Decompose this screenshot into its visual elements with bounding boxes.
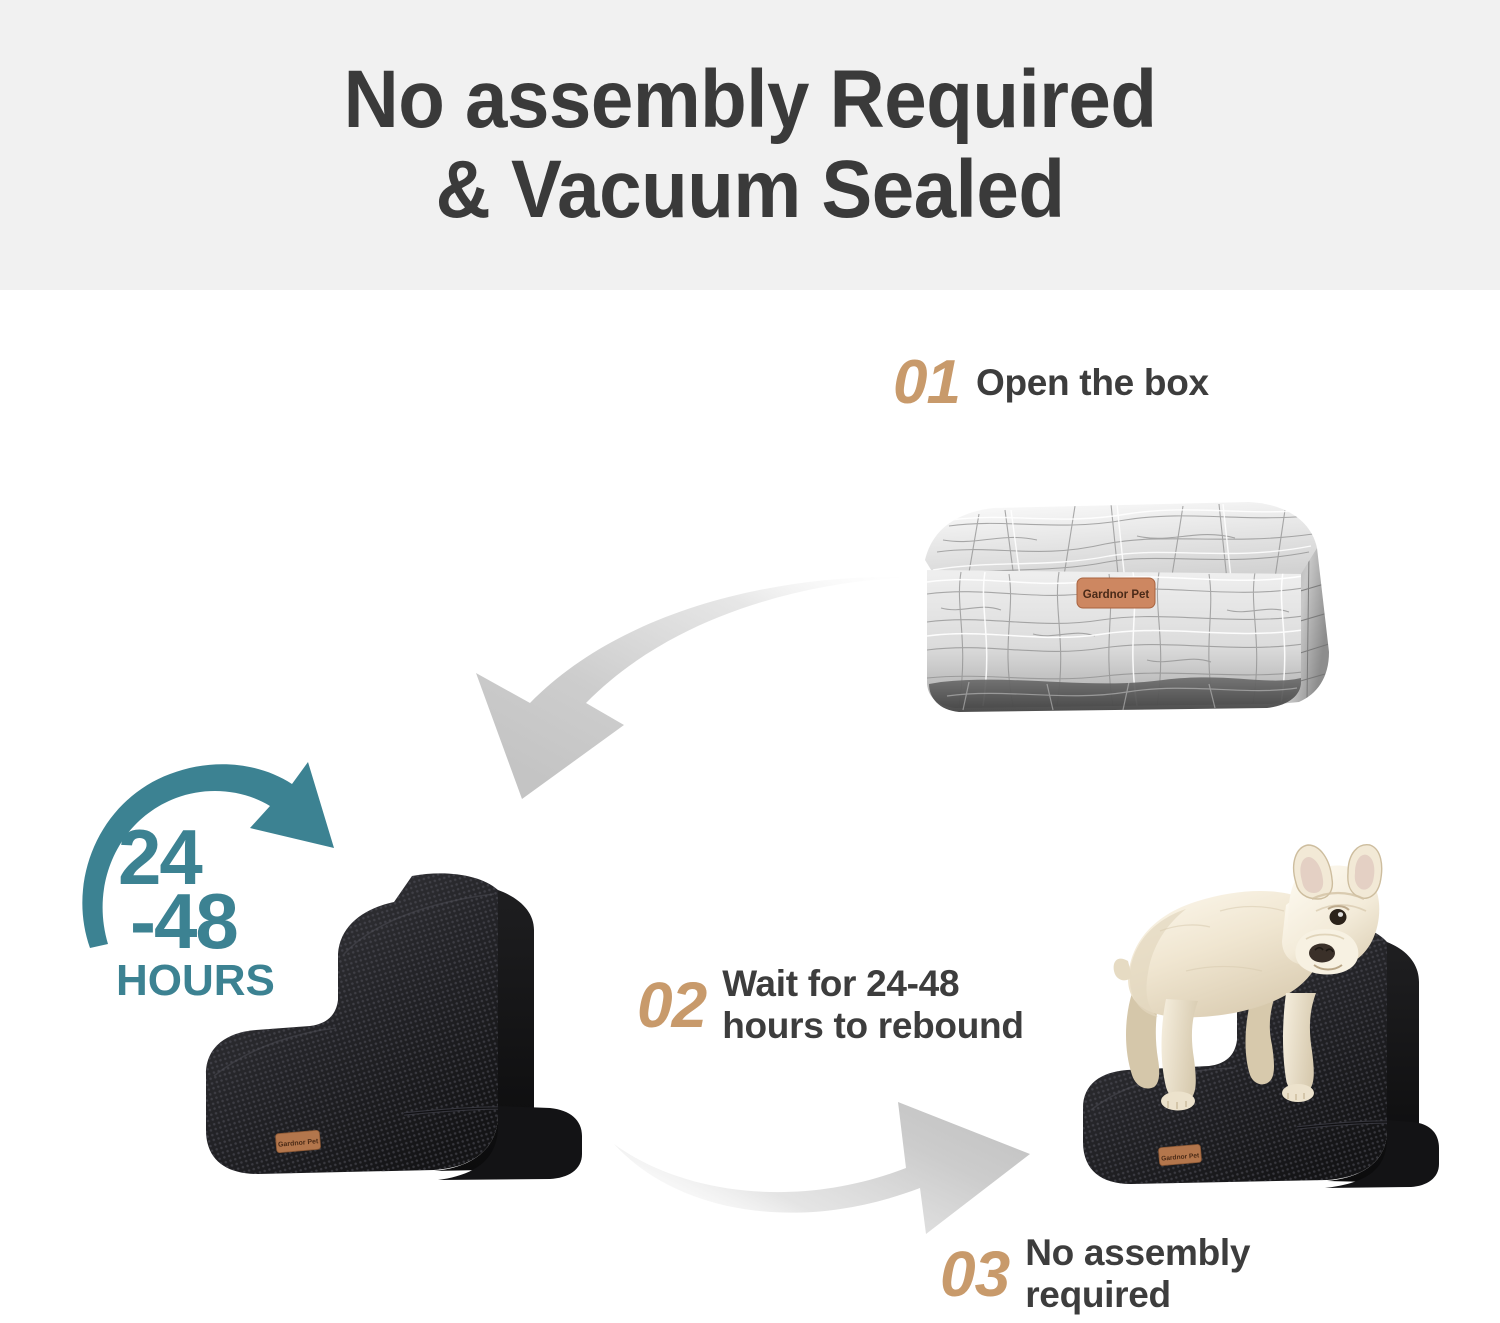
headline-line-2: & Vacuum Sealed: [436, 145, 1065, 235]
step-number-03: 03: [940, 1243, 1009, 1305]
step-number-01: 01: [893, 352, 960, 414]
french-bulldog-image: [1090, 843, 1385, 1133]
package-brand-label: Gardnor Pet: [1077, 578, 1155, 608]
headline-line-1: No assembly Required: [344, 55, 1157, 145]
header-band: No assembly Required & Vacuum Sealed: [0, 0, 1500, 290]
step-label-02: 02 Wait for 24-48 hours to rebound: [637, 963, 1024, 1047]
pet-stairs-left-image: Gardnor Pet: [198, 868, 598, 1213]
stairs-right-brand-tag: Gardnor Pet: [1158, 1144, 1201, 1166]
step-number-02: 02: [637, 974, 706, 1036]
step-label-03: 03 No assembly required: [940, 1232, 1250, 1316]
vacuum-sealed-package-image: Gardnor Pet: [897, 482, 1347, 732]
step-label-01: 01 Open the box: [893, 352, 1209, 414]
stairs-left-brand-tag: Gardnor Pet: [275, 1130, 320, 1153]
infographic-page: No assembly Required & Vacuum Sealed 01 …: [0, 0, 1500, 1323]
package-brand-text: Gardnor Pet: [1083, 589, 1150, 601]
flow-arrow-box-to-stairs: [418, 575, 918, 815]
step-text-02: Wait for 24-48 hours to rebound: [722, 963, 1023, 1047]
flow-arrow-stairs-to-dog: [612, 1048, 1032, 1248]
step-text-03: No assembly required: [1025, 1232, 1250, 1316]
step-text-01: Open the box: [976, 362, 1209, 404]
